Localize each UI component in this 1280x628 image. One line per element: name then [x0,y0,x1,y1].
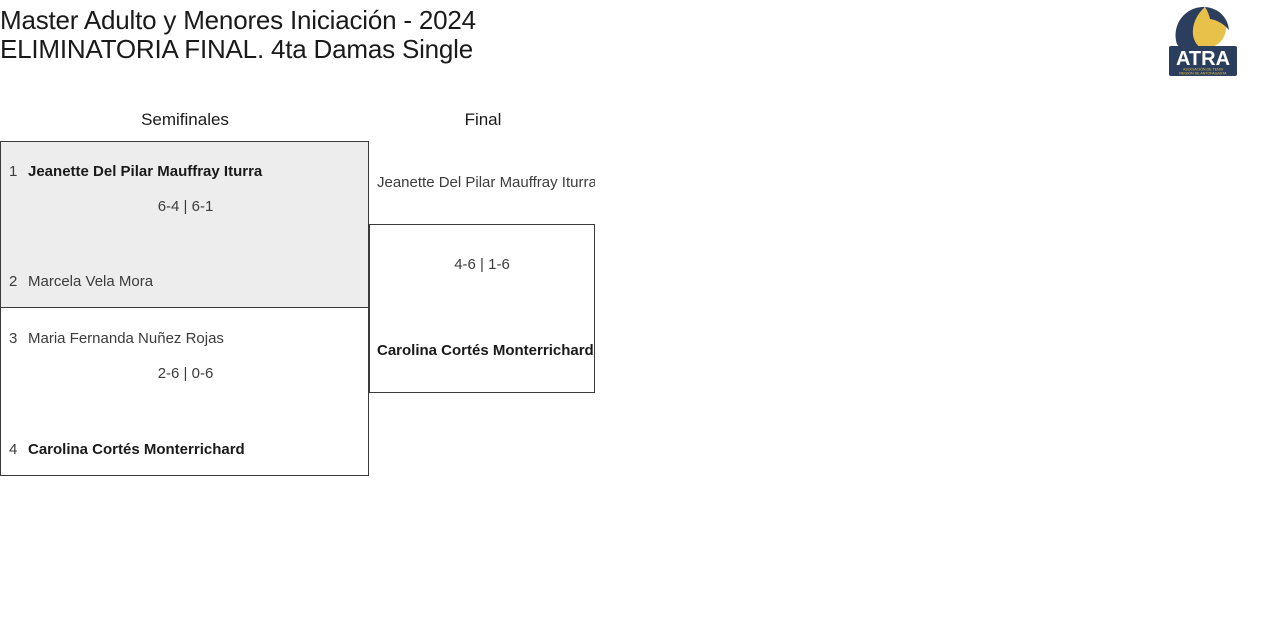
player-name: Carolina Cortés Monterrichard [28,441,245,458]
seed-number: 4 [9,441,28,458]
final-player-row-top[interactable]: Jeanette Del Pilar Mauffray Iturra [369,172,595,194]
match-box-final[interactable] [369,224,595,393]
final-player-row-bottom[interactable]: Carolina Cortés Monterrichard [369,340,595,362]
match-score: 6-4 | 6-1 [1,198,370,215]
player-name: Marcela Vela Mora [28,273,153,290]
match-player-row-bottom[interactable]: 4 Carolina Cortés Monterrichard [9,438,360,460]
bracket-connector-top [369,224,595,225]
match-player-row-top[interactable]: 3 Maria Fernanda Nuñez Rojas [9,327,360,349]
final-match-score: 4-6 | 1-6 [369,256,595,273]
player-name: Jeanette Del Pilar Mauffray Iturra [28,163,262,180]
player-name: Maria Fernanda Nuñez Rojas [28,330,224,347]
seed-number: 3 [9,330,28,347]
tournament-bracket: 1 Jeanette Del Pilar Mauffray Iturra 6-4… [0,0,1280,628]
match-player-row-top[interactable]: 1 Jeanette Del Pilar Mauffray Iturra [9,160,360,182]
seed-number: 1 [9,163,28,180]
match-player-row-bottom[interactable]: 2 Marcela Vela Mora [9,270,360,292]
match-score: 2-6 | 0-6 [1,365,370,382]
match-box-semifinal-1[interactable]: 1 Jeanette Del Pilar Mauffray Iturra 6-4… [0,141,369,308]
player-name: Jeanette Del Pilar Mauffray Iturra [369,172,595,194]
match-box-semifinal-2[interactable]: 3 Maria Fernanda Nuñez Rojas 2-6 | 0-6 4… [0,307,369,476]
player-name: Carolina Cortés Monterrichard [369,340,595,362]
seed-number: 2 [9,273,28,290]
bracket-connector-bottom [369,392,595,393]
